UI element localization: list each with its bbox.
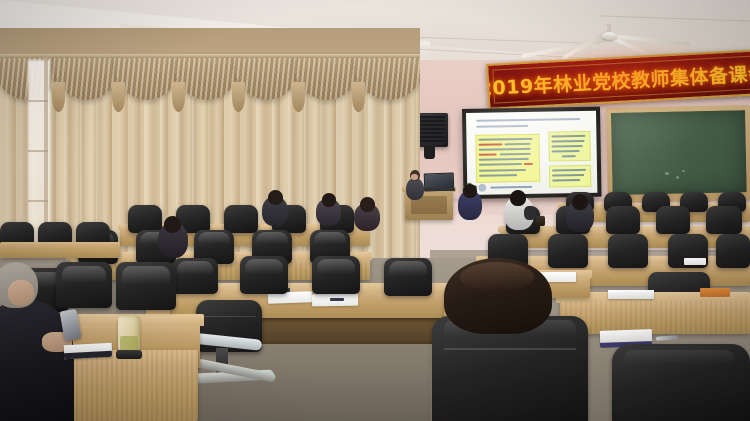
chalk-mark (682, 170, 685, 172)
tea-jar-lid (116, 350, 142, 359)
valance-jabot (232, 82, 245, 112)
attendee-hair (510, 190, 526, 206)
hair-sheen (460, 262, 534, 292)
chair (224, 205, 258, 233)
chair-highlight (314, 232, 346, 244)
chalk-mark (676, 176, 679, 179)
valance-jabot (112, 82, 125, 112)
desk-grain (56, 350, 198, 421)
valance-jabot (292, 82, 305, 112)
chair-seam (444, 348, 576, 350)
window-mullion (28, 150, 48, 152)
attendee-hair (572, 194, 588, 210)
desk-row-left-back (0, 242, 120, 258)
chair-highlight (624, 350, 734, 364)
pen-on-desk (330, 298, 344, 301)
tea-cup (536, 216, 545, 226)
attendee-shoulder (524, 206, 536, 220)
speaker-bracket (424, 146, 435, 159)
chair (716, 234, 750, 268)
chair (548, 234, 588, 268)
curtain-rod (0, 54, 420, 58)
paper-on-desk (608, 290, 654, 299)
chair-highlight (122, 266, 170, 284)
projection-screen (466, 111, 597, 195)
slide-heading-line (476, 125, 528, 128)
curtain-valance (0, 54, 420, 106)
meeting-room-photo: 2019年林业党校教师集体备课会 (0, 0, 750, 421)
attendee-hair (268, 190, 283, 205)
chair (656, 206, 690, 234)
chair (706, 206, 742, 234)
slide-footer-line (490, 186, 532, 188)
attendee-hair (463, 184, 477, 198)
desk-grain (560, 300, 750, 334)
chair-highlight (245, 259, 283, 274)
orange-folder (700, 288, 730, 297)
chair-highlight (198, 232, 230, 244)
slide-text-line-accent (479, 153, 497, 155)
window-mullion (28, 200, 48, 202)
attendee-hair (164, 216, 181, 233)
valance-jabot (52, 82, 65, 112)
chair-seam (202, 316, 256, 317)
chair (128, 205, 162, 233)
ceiling-fan-hub (602, 32, 617, 40)
tea-leaves (120, 336, 138, 350)
chair-highlight (256, 232, 288, 244)
attendee-hair (322, 193, 336, 207)
paper-on-desk (684, 258, 706, 265)
chair-highlight (62, 266, 106, 283)
chalkboard-sheen (611, 110, 747, 195)
chair (606, 206, 640, 234)
presenter-body (406, 178, 424, 200)
chalk-mark (665, 172, 669, 175)
slide-logo (478, 184, 486, 192)
window-mullion (28, 100, 48, 102)
attendee-face (8, 280, 34, 306)
led-banner-text: 2019年林业党校教师集体备课会 (486, 58, 750, 101)
chair-highlight (177, 261, 213, 275)
laptop-base (421, 188, 455, 191)
valance-jabot (352, 82, 365, 112)
chair-highlight (317, 259, 355, 274)
valance-jabot (172, 82, 185, 112)
slide-heading-line (476, 118, 580, 122)
slide-text-line (562, 155, 576, 157)
chair-highlight (389, 261, 427, 276)
chair (608, 234, 648, 268)
presenter-face (411, 174, 418, 180)
speaker-grille (417, 116, 445, 144)
led-banner-inner-border: 2019年林业党校教师集体备课会 (493, 55, 750, 104)
attendee-hair (360, 197, 375, 212)
slide-text-line-accent (524, 163, 533, 165)
